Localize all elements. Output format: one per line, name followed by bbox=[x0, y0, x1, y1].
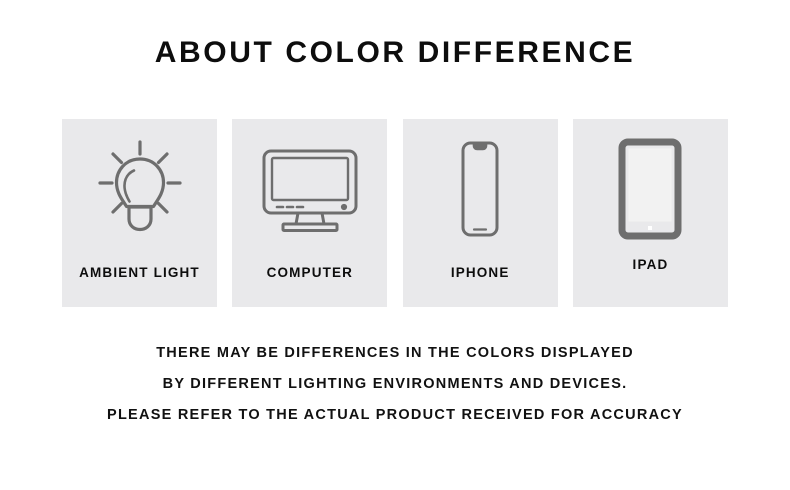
ipad-icon bbox=[573, 119, 728, 259]
device-card-ipad: IPAD bbox=[573, 119, 728, 307]
device-card-iphone: IPHONE bbox=[403, 119, 558, 307]
device-card-label: COMPUTER bbox=[232, 265, 387, 280]
disclaimer-line-1: THERE MAY BE DIFFERENCES IN THE COLORS D… bbox=[0, 338, 790, 369]
disclaimer-text: THERE MAY BE DIFFERENCES IN THE COLORS D… bbox=[0, 338, 790, 431]
page-title: ABOUT COLOR DIFFERENCE bbox=[0, 36, 790, 70]
device-card-computer: COMPUTER bbox=[232, 119, 387, 307]
iphone-icon bbox=[403, 119, 558, 259]
disclaimer-line-3: PLEASE REFER TO THE ACTUAL PRODUCT RECEI… bbox=[0, 400, 790, 431]
device-card-label: AMBIENT LIGHT bbox=[62, 265, 217, 280]
device-card-row: AMBIENT LIGHT bbox=[62, 119, 728, 307]
color-difference-infographic: ABOUT COLOR DIFFERENCE bbox=[0, 0, 790, 490]
device-card-label: IPHONE bbox=[403, 265, 558, 280]
light-bulb-icon bbox=[62, 119, 217, 259]
disclaimer-line-2: BY DIFFERENT LIGHTING ENVIRONMENTS AND D… bbox=[0, 369, 790, 400]
device-card-label: IPAD bbox=[573, 257, 728, 272]
device-card-ambient-light: AMBIENT LIGHT bbox=[62, 119, 217, 307]
computer-monitor-icon bbox=[232, 119, 387, 259]
